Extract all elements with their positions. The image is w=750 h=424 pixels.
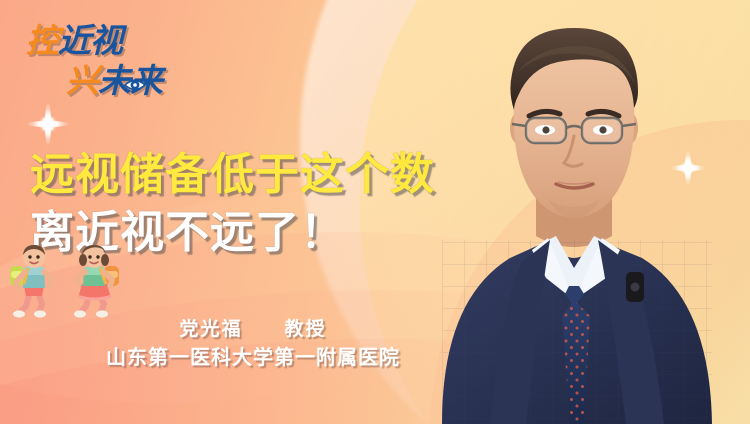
credits: 党光福 教授 山东第一医科大学第一附属医院	[58, 316, 448, 372]
presenter-organization: 山东第一医科大学第一附属医院	[58, 342, 448, 372]
kid-girl-icon	[66, 244, 124, 320]
eye-icon	[123, 76, 147, 94]
presenter-name-line: 党光福 教授	[58, 316, 448, 342]
kid-boy-icon	[6, 244, 64, 320]
program-logo: 控近视 兴未来	[26, 14, 216, 106]
logo-line-2: 兴未来	[66, 54, 162, 102]
kids-illustration	[4, 244, 134, 320]
logo-line2-part1: 兴	[66, 61, 98, 100]
sparkle-top-left-icon	[26, 102, 70, 146]
logo-line1-part1: 控	[26, 21, 58, 60]
thumbnail-canvas: 控近视 兴未来 远视储备低于这个数 离近视不远了！	[0, 0, 750, 424]
headline-line-1: 远视储备低于这个数	[30, 146, 500, 204]
